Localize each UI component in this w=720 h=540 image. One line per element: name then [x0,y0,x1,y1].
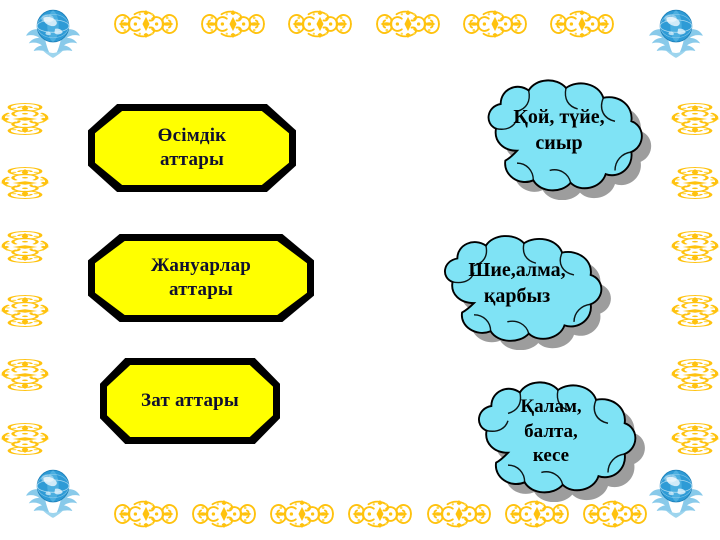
slide-canvas: Өсімдік аттары Жануарлар аттары Зат атта… [0,0,720,540]
kazakh-ornament-motif [664,228,720,266]
kazakh-ornament-motif [0,100,56,138]
kazakhstan-globe-wings-emblem [22,4,84,67]
ornament-column-right [676,88,714,470]
example-label-objects: Қалам, балта, кесе [458,374,658,502]
kazakh-ornament-motif [0,228,56,266]
kazakh-ornament-motif [0,420,56,458]
kazakh-ornament-motif [370,6,446,42]
category-shape-objects[interactable]: Зат аттары [100,358,280,444]
kazakh-ornament-motif [0,356,56,394]
category-shape-animals-fill: Жануарлар аттары [95,241,307,315]
kazakh-ornament-motif [108,495,184,533]
category-shape-plants[interactable]: Өсімдік аттары [88,104,296,192]
ornament-row-top [108,6,620,42]
kazakh-ornament-motif [664,164,720,202]
category-label-objects: Зат аттары [141,389,239,413]
category-shape-objects-fill: Зат аттары [107,365,273,437]
kazakh-ornament-motif [664,292,720,330]
kazakh-ornament-motif [0,292,56,330]
ornament-column-left [6,88,44,470]
example-cloud-animals[interactable]: Қой, түйе, сиыр [468,72,664,200]
example-label-plants: Шие,алма, қарбыз [424,228,624,350]
kazakh-ornament-motif [264,495,340,533]
kazakh-ornament-motif [664,420,720,458]
kazakh-ornament-motif [664,356,720,394]
category-label-animals: Жануарлар аттары [151,254,251,302]
kazakh-ornament-motif [544,6,620,42]
category-shape-animals[interactable]: Жануарлар аттары [88,234,314,322]
kazakhstan-globe-wings-emblem [645,4,707,67]
kazakh-ornament-motif [282,6,358,42]
category-shape-plants-fill: Өсімдік аттары [95,111,289,185]
kazakh-ornament-motif [108,6,184,42]
kazakh-ornament-motif [457,6,533,42]
kazakhstan-globe-wings-emblem [22,464,84,527]
kazakh-ornament-motif [664,100,720,138]
category-label-plants: Өсімдік аттары [158,124,227,172]
kazakh-ornament-motif [342,495,418,533]
example-label-animals: Қой, түйе, сиыр [468,72,664,200]
kazakh-ornament-motif [0,164,56,202]
example-cloud-objects[interactable]: Қалам, балта, кесе [458,374,658,502]
kazakh-ornament-motif [186,495,262,533]
example-cloud-plants[interactable]: Шие,алма, қарбыз [424,228,624,350]
kazakh-ornament-motif [195,6,271,42]
